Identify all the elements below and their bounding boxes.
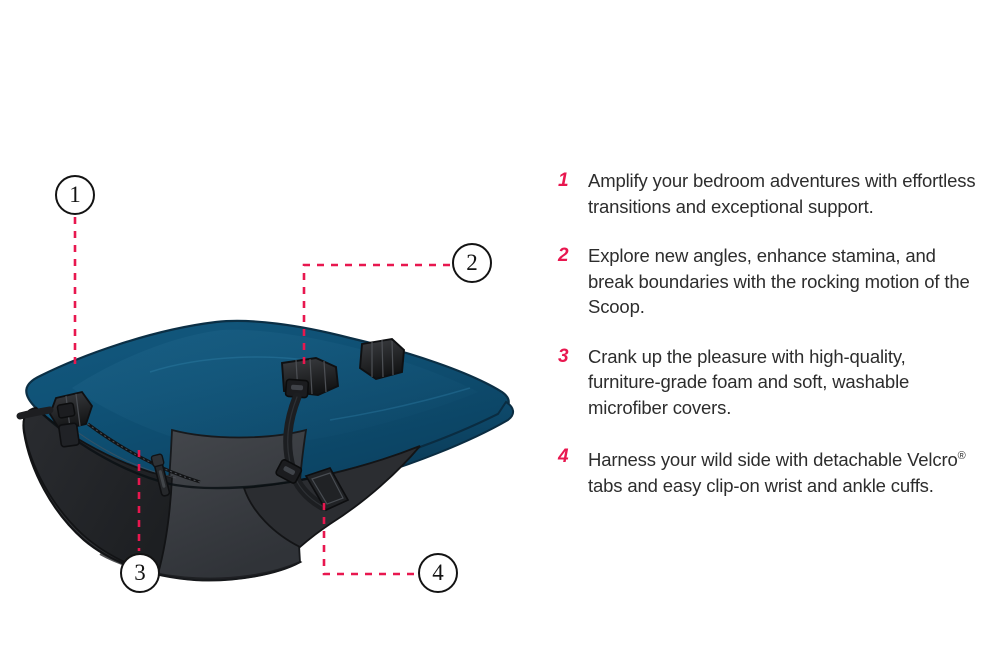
callout-number-3: 3: [134, 561, 146, 584]
callout-marker-4[interactable]: 4: [418, 553, 458, 593]
feature-text-4-before: Harness your wild side with detachable V…: [588, 449, 958, 470]
feature-number-3: 3: [558, 344, 588, 370]
velcro-tab-left-lower: [59, 423, 80, 447]
feature-number-4: 4: [558, 444, 588, 470]
callout-marker-3[interactable]: 3: [120, 553, 160, 593]
feature-text-4-after: tabs and easy clip-on wrist and ankle cu…: [588, 475, 934, 496]
feature-text-3: Crank up the pleasure with high-quality,…: [588, 344, 982, 421]
velcro-tab-left-buckle: [57, 403, 75, 419]
side-zipper-slider: [151, 454, 164, 467]
feature-text-2: Explore new angles, enhance stamina, and…: [588, 243, 982, 320]
callout-number-4: 4: [432, 561, 444, 584]
feature-text-4: Harness your wild side with detachable V…: [588, 444, 982, 498]
clip-buckle-upper-slot: [291, 385, 303, 391]
product-feature-diagram: 1 2 3 4 1 Amplify your bedroom adventure…: [0, 0, 1000, 666]
feature-number-2: 2: [558, 243, 588, 269]
product-illustration-panel: 1 2 3 4: [0, 0, 530, 666]
feature-item-2: 2 Explore new angles, enhance stamina, a…: [558, 243, 982, 320]
registered-trademark-mark: ®: [958, 450, 966, 462]
feature-item-4: 4 Harness your wild side with detachable…: [558, 444, 982, 498]
feature-text-1: Amplify your bedroom adventures with eff…: [588, 168, 982, 219]
velcro-tab-right: [360, 339, 404, 379]
callout-marker-2[interactable]: 2: [452, 243, 492, 283]
feature-list: 1 Amplify your bedroom adventures with e…: [558, 168, 982, 498]
callout-number-1: 1: [69, 183, 81, 206]
feature-item-1: 1 Amplify your bedroom adventures with e…: [558, 168, 982, 219]
product-body: [20, 321, 513, 580]
feature-item-3: 3 Crank up the pleasure with high-qualit…: [558, 344, 982, 421]
feature-number-1: 1: [558, 168, 588, 194]
callout-number-2: 2: [466, 251, 478, 274]
callout-marker-1[interactable]: 1: [55, 175, 95, 215]
